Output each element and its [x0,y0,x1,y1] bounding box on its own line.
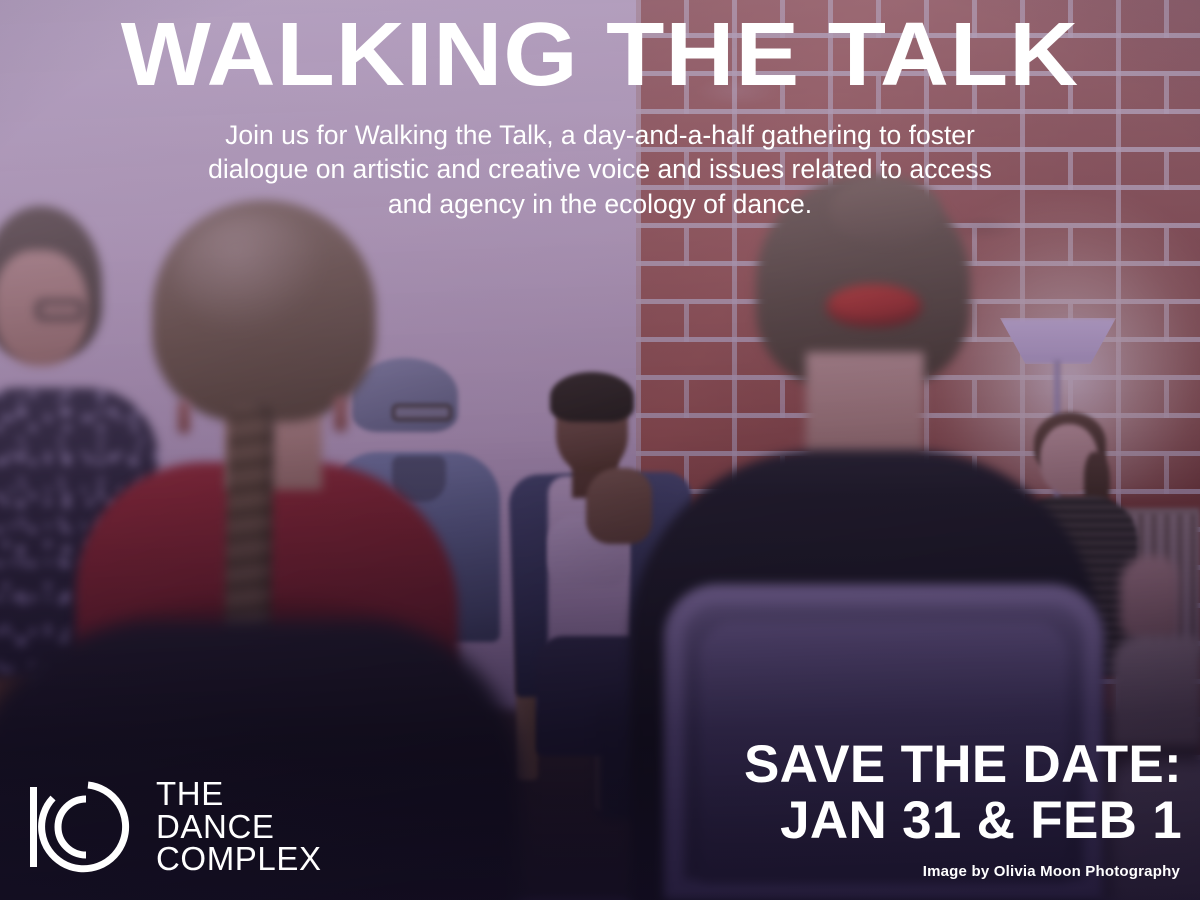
logo-line-dance: DANCE [156,811,322,844]
logo-line-the: THE [156,778,322,811]
logo-line-complex: COMPLEX [156,843,322,876]
poster-canvas: WALKING THE TALK Join us for Walking the… [0,0,1200,900]
the-dance-complex-logo-mark [26,776,138,878]
description-line-2: dialogue on artistic and creative voice … [100,152,1100,186]
description-line-1: Join us for Walking the Talk, a day-and-… [100,118,1100,152]
description-line-3: and agency in the ecology of dance. [100,187,1100,221]
page-title: WALKING THE TALK [0,10,1200,100]
event-dates: JAN 31 & FEB 1 [744,793,1182,850]
save-the-date-label: SAVE THE DATE: [744,737,1182,794]
description-paragraph: Join us for Walking the Talk, a day-and-… [100,118,1100,221]
the-dance-complex-logo[interactable]: THE DANCE COMPLEX [26,776,322,878]
save-the-date-block: SAVE THE DATE: JAN 31 & FEB 1 [744,737,1182,850]
photo-credit: Image by Olivia Moon Photography [923,863,1180,880]
logo-wordmark: THE DANCE COMPLEX [156,778,322,876]
poster-content: WALKING THE TALK Join us for Walking the… [0,0,1200,900]
